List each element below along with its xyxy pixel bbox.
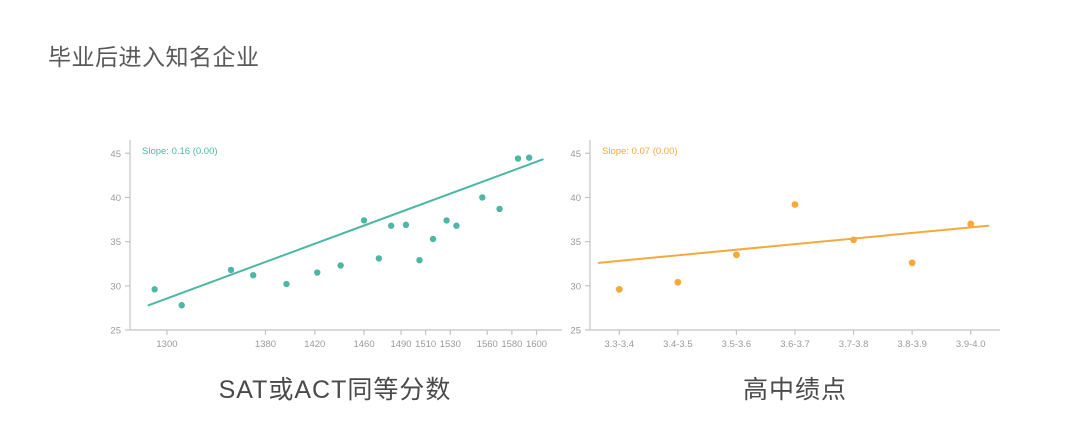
x-tick-label: 1490 [390, 339, 411, 350]
x-tick-label: 1300 [156, 339, 177, 350]
data-point [967, 221, 974, 228]
x-tick-label: 3.4-3.5 [663, 339, 693, 350]
x-tick-label: 1420 [304, 339, 325, 350]
data-point [228, 267, 234, 273]
x-tick-label: 1510 [415, 339, 436, 350]
sat-caption: SAT或ACT同等分数 [100, 370, 570, 406]
gpa-data-points [616, 201, 974, 293]
x-tick-label: 3.5-3.6 [722, 339, 752, 350]
x-tick-label: 3.7-3.8 [839, 339, 869, 350]
slide-canvas: 毕业后进入知名企业 2530354045 1300138014201460149… [0, 0, 1080, 443]
y-tick-label: 25 [570, 326, 581, 337]
gpa-caption: 高中绩点 [560, 370, 1030, 406]
data-point [526, 154, 532, 160]
data-point [403, 222, 409, 228]
sat-y-tick-group: 2530354045 [110, 149, 130, 337]
data-point [151, 286, 157, 292]
data-point [416, 257, 422, 263]
y-tick-label: 45 [570, 149, 581, 160]
data-point [792, 201, 799, 208]
x-tick-label: 1600 [526, 339, 547, 350]
gpa-x-tick-group: 3.3-3.43.4-3.53.5-3.63.6-3.73.7-3.83.8-3… [604, 330, 985, 350]
x-tick-label: 3.9-4.0 [956, 339, 986, 350]
data-point [388, 223, 394, 229]
sat-slope-annotation: Slope: 0.16 (0.00) [142, 146, 218, 157]
y-tick-label: 25 [110, 326, 121, 337]
sat-trend-line [148, 159, 542, 305]
gpa-slope-annotation: Slope: 0.07 (0.00) [602, 146, 678, 157]
y-tick-label: 30 [570, 281, 581, 292]
data-point [515, 155, 521, 161]
data-point [850, 236, 857, 243]
data-point [283, 281, 289, 287]
sat-data-points [151, 154, 532, 308]
gpa-trend-line [599, 226, 989, 263]
sat-x-tick-group: 1300138014201460149015101530156015801600 [156, 330, 547, 350]
y-tick-label: 45 [110, 149, 121, 160]
data-point [496, 206, 502, 212]
data-point [443, 217, 449, 223]
data-point [337, 262, 343, 268]
sat-scatter-plot: 2530354045 13001380142014601490151015301… [100, 130, 570, 360]
x-tick-label: 1580 [501, 339, 522, 350]
x-tick-label: 1560 [477, 339, 498, 350]
y-tick-label: 30 [110, 281, 121, 292]
x-tick-label: 1530 [440, 339, 461, 350]
x-tick-label: 3.8-3.9 [897, 339, 927, 350]
page-title: 毕业后进入知名企业 [48, 38, 260, 72]
data-point [674, 279, 681, 286]
gpa-y-tick-group: 2530354045 [570, 149, 590, 337]
data-point [479, 194, 485, 200]
data-point [376, 255, 382, 261]
data-point [179, 302, 185, 308]
data-point [909, 259, 916, 266]
y-tick-label: 40 [570, 193, 581, 204]
x-tick-label: 3.6-3.7 [780, 339, 810, 350]
gpa-scatter-plot: 2530354045 3.3-3.43.4-3.53.5-3.63.6-3.73… [560, 130, 1030, 360]
chart-panel-gpa: 2530354045 3.3-3.43.4-3.53.5-3.63.6-3.73… [560, 130, 1030, 430]
y-tick-label: 35 [110, 237, 121, 248]
y-tick-label: 40 [110, 193, 121, 204]
x-tick-label: 1380 [255, 339, 276, 350]
data-point [733, 251, 740, 258]
data-point [314, 269, 320, 275]
data-point [616, 286, 623, 293]
x-tick-label: 1460 [353, 339, 374, 350]
data-point [250, 272, 256, 278]
data-point [453, 223, 459, 229]
chart-panel-sat: 2530354045 13001380142014601490151015301… [100, 130, 570, 430]
data-point [361, 217, 367, 223]
data-point [430, 236, 436, 242]
x-tick-label: 3.3-3.4 [604, 339, 634, 350]
y-tick-label: 35 [570, 237, 581, 248]
